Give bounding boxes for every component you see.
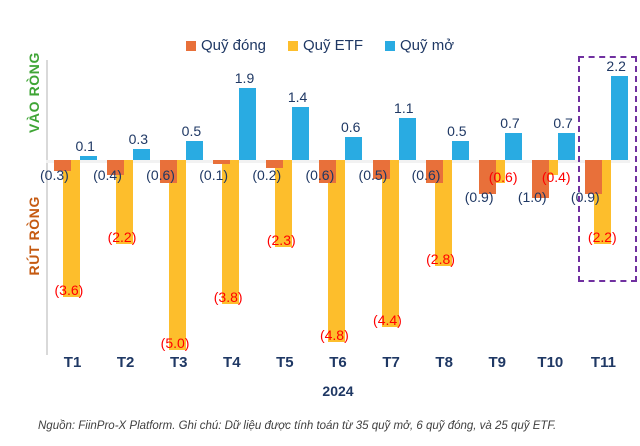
bar-closed-T4 xyxy=(213,160,230,164)
bar-group-T10: 0.7(1.0)(0.4) xyxy=(524,60,577,355)
bar-etf-T3 xyxy=(169,160,186,350)
bar-open-T9 xyxy=(505,133,522,160)
value-label-closed-T5: (0.2) xyxy=(252,168,281,182)
bar-open-T8 xyxy=(452,141,469,160)
square-swatch-icon xyxy=(385,41,395,51)
bar-open-T1 xyxy=(80,156,97,160)
value-label-closed-T6: (0.6) xyxy=(305,168,334,182)
value-label-closed-T8: (0.6) xyxy=(412,168,441,182)
value-label-open-T10: 0.7 xyxy=(553,116,572,130)
x-tick-T5: T5 xyxy=(258,355,311,370)
value-label-etf-T2: (2.2) xyxy=(108,230,137,244)
value-label-closed-T11: (0.9) xyxy=(571,190,600,204)
x-tick-T4: T4 xyxy=(205,355,258,370)
value-label-open-T9: 0.7 xyxy=(500,116,519,130)
value-label-open-T6: 0.6 xyxy=(341,120,360,134)
bar-group-T11: 2.2(0.9)(2.2) xyxy=(577,60,630,355)
x-tick-T1: T1 xyxy=(46,355,99,370)
value-label-open-T5: 1.4 xyxy=(288,90,307,104)
value-label-etf-T5: (2.3) xyxy=(267,233,296,247)
axis-label-net-inflow: VÀO RÒNG xyxy=(27,52,41,133)
bar-group-T8: 0.5(0.6)(2.8) xyxy=(418,60,471,355)
bar-open-T10 xyxy=(558,133,575,160)
legend-item-label: Quỹ ETF xyxy=(303,38,363,53)
value-label-open-T11: 2.2 xyxy=(606,59,625,73)
value-label-closed-T3: (0.6) xyxy=(146,168,175,182)
bar-open-T5 xyxy=(292,107,309,160)
value-label-etf-T7: (4.4) xyxy=(373,313,402,327)
bar-group-T1: 0.1(0.3)(3.6) xyxy=(46,60,99,355)
x-tick-T11: T11 xyxy=(577,355,630,370)
square-swatch-icon xyxy=(288,41,298,51)
value-label-closed-T4: (0.1) xyxy=(199,168,228,182)
x-tick-T7: T7 xyxy=(365,355,418,370)
value-label-open-T8: 0.5 xyxy=(447,124,466,138)
square-swatch-icon xyxy=(186,41,196,51)
bar-open-T11 xyxy=(611,76,628,160)
x-tick-T3: T3 xyxy=(152,355,205,370)
legend-item-2[interactable]: Quỹ ETF xyxy=(288,38,363,53)
value-label-etf-T1: (3.6) xyxy=(55,283,84,297)
x-tick-T6: T6 xyxy=(311,355,364,370)
bar-open-T2 xyxy=(133,149,150,160)
chart-legend: Quỹ đóngQuỹ ETFQuỹ mở xyxy=(0,38,640,53)
x-tick-T9: T9 xyxy=(471,355,524,370)
value-label-etf-T6: (4.8) xyxy=(320,328,349,342)
value-label-etf-T3: (5.0) xyxy=(161,336,190,350)
value-label-open-T4: 1.9 xyxy=(235,71,254,85)
source-footnote: Nguồn: FiinPro-X Platform. Ghi chú: Dữ l… xyxy=(38,420,634,434)
value-label-closed-T7: (0.5) xyxy=(359,168,388,182)
x-axis-title: 2024 xyxy=(46,383,630,399)
value-label-open-T1: 0.1 xyxy=(76,139,95,153)
value-label-etf-T4: (3.8) xyxy=(214,290,243,304)
bar-open-T3 xyxy=(186,141,203,160)
bar-group-T3: 0.5(0.6)(5.0) xyxy=(152,60,205,355)
bar-group-T6: 0.6(0.6)(4.8) xyxy=(311,60,364,355)
value-label-closed-T9: (0.9) xyxy=(465,190,494,204)
legend-item-label: Quỹ đóng xyxy=(201,38,266,53)
bar-open-T7 xyxy=(399,118,416,160)
bar-etf-T6 xyxy=(328,160,345,342)
bar-group-T9: 0.7(0.9)(0.6) xyxy=(471,60,524,355)
bar-open-T4 xyxy=(239,88,256,160)
net-fund-flow-chart: Quỹ đóngQuỹ ETFQuỹ mở VÀO RÒNG RÚT RÒNG … xyxy=(0,0,640,446)
x-tick-T2: T2 xyxy=(99,355,152,370)
value-label-closed-T2: (0.4) xyxy=(93,168,122,182)
axis-label-net-outflow: RÚT RÒNG xyxy=(27,196,41,275)
legend-item-3[interactable]: Quỹ mở xyxy=(385,38,454,53)
value-label-open-T7: 1.1 xyxy=(394,101,413,115)
bar-group-T4: 1.9(0.1)(3.8) xyxy=(205,60,258,355)
value-label-etf-T8: (2.8) xyxy=(426,252,455,266)
bar-group-T2: 0.3(0.4)(2.2) xyxy=(99,60,152,355)
x-axis-ticks: T1T2T3T4T5T6T7T8T9T10T11 xyxy=(46,355,630,381)
x-tick-T8: T8 xyxy=(418,355,471,370)
value-label-etf-T9: (0.6) xyxy=(489,170,518,184)
bar-group-T7: 1.1(0.5)(4.4) xyxy=(365,60,418,355)
value-label-etf-T10: (0.4) xyxy=(542,170,571,184)
value-label-etf-T11: (2.2) xyxy=(588,230,617,244)
value-label-closed-T1: (0.3) xyxy=(40,168,69,182)
bar-open-T6 xyxy=(345,137,362,160)
bar-group-T5: 1.4(0.2)(2.3) xyxy=(258,60,311,355)
legend-item-1[interactable]: Quỹ đóng xyxy=(186,38,266,53)
value-label-open-T2: 0.3 xyxy=(129,132,148,146)
value-label-open-T3: 0.5 xyxy=(182,124,201,138)
bar-etf-T7 xyxy=(382,160,399,327)
legend-item-label: Quỹ mở xyxy=(400,38,454,53)
x-tick-T10: T10 xyxy=(524,355,577,370)
plot-area: 0.1(0.3)(3.6)0.3(0.4)(2.2)0.5(0.6)(5.0)1… xyxy=(46,60,630,355)
value-label-closed-T10: (1.0) xyxy=(518,190,547,204)
